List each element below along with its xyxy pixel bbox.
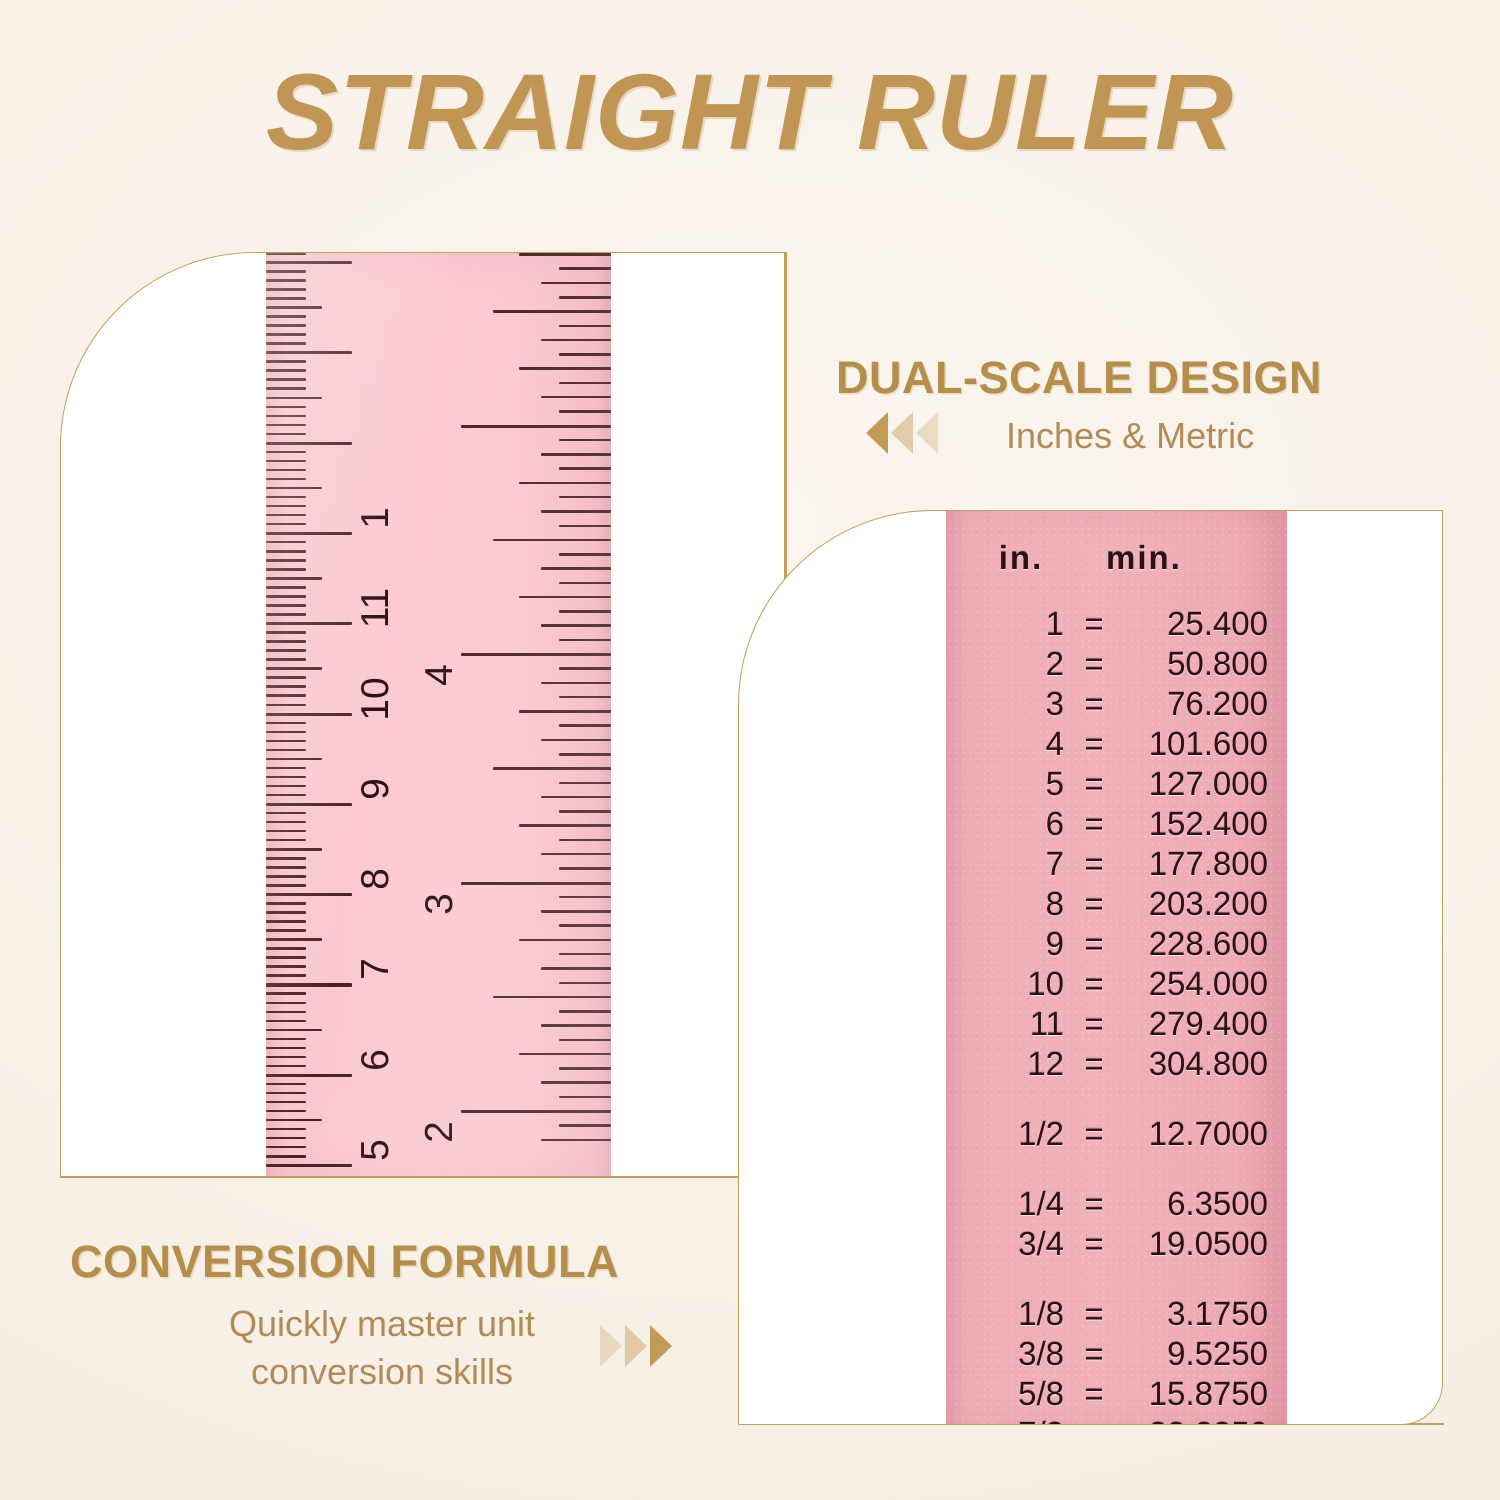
metric-label: 1 xyxy=(356,490,408,546)
metric-label: 11 xyxy=(356,580,408,636)
cell-equals: = xyxy=(1074,927,1114,960)
inch-tick-fraction xyxy=(559,496,611,499)
cell-equals: = xyxy=(1074,727,1114,760)
inch-label: 4 xyxy=(420,647,472,703)
table-row: 10=254.000 xyxy=(946,967,1287,1007)
metric-tick-mm xyxy=(266,956,306,959)
chevron-right-icon xyxy=(650,1325,672,1367)
cell-inches: 11 xyxy=(946,1007,1074,1040)
inch-tick-fraction xyxy=(559,753,611,756)
header-millimeters: min. xyxy=(1106,541,1282,574)
inch-tick-fraction xyxy=(519,939,611,942)
infographic-canvas: STRAIGHT RULER 5678910111234 in.min.1=25… xyxy=(0,0,1500,1500)
cell-equals: = xyxy=(1074,847,1114,880)
cell-inches: 1 xyxy=(946,607,1074,640)
metric-tick-mm xyxy=(266,333,306,336)
table-row: 3/8=9.5250 xyxy=(946,1337,1287,1377)
ruler-conversion-strip: in.min.1=25.4002=50.8003=76.2004=101.600… xyxy=(946,511,1287,1425)
inch-tick-fraction xyxy=(559,439,611,442)
metric-tick-mm xyxy=(266,324,306,327)
inch-tick-fraction xyxy=(559,267,611,270)
ruler-photo-card: 5678910111234 xyxy=(60,252,785,1177)
inch-tick-fraction xyxy=(559,1010,611,1013)
metric-tick-mm xyxy=(266,360,306,363)
conversion-table: in.min.1=25.4002=50.8003=76.2004=101.600… xyxy=(946,541,1287,1425)
cell-equals: = xyxy=(1074,607,1114,640)
chevron-group-right xyxy=(600,1325,675,1367)
inch-tick-fraction xyxy=(559,382,611,385)
metric-tick-mm xyxy=(266,911,306,914)
inch-tick-fraction xyxy=(541,339,611,342)
cell-equals: = xyxy=(1074,807,1114,840)
cell-inches: 8 xyxy=(946,887,1074,920)
inch-label: 2 xyxy=(420,1104,472,1160)
metric-tick-mm xyxy=(266,857,306,860)
metric-tick-mm xyxy=(266,541,306,544)
chevron-right-icon xyxy=(600,1325,622,1367)
chevron-left-icon xyxy=(866,412,888,454)
metric-tick-mm xyxy=(266,604,306,607)
metric-tick-half xyxy=(266,577,322,580)
cell-equals: = xyxy=(1074,1377,1114,1410)
metric-tick-mm xyxy=(266,1128,306,1131)
metric-tick-mm xyxy=(266,929,306,932)
metric-tick-mm xyxy=(266,631,306,634)
metric-tick-mm xyxy=(266,342,306,345)
metric-tick-mm xyxy=(266,649,306,652)
inch-tick-fraction xyxy=(559,667,611,670)
metric-tick-cm xyxy=(266,532,352,535)
metric-tick-mm xyxy=(266,704,306,707)
table-row: 5/8=15.8750 xyxy=(946,1377,1287,1417)
metric-tick-cm xyxy=(266,893,352,896)
metric-tick-mm xyxy=(266,613,306,616)
cell-inches: 1/8 xyxy=(946,1297,1074,1330)
metric-tick-mm xyxy=(266,252,306,255)
inch-tick-fraction xyxy=(559,782,611,785)
metric-tick-mm xyxy=(266,749,306,752)
metric-tick-mm xyxy=(266,640,306,643)
inch-tick-fraction xyxy=(559,696,611,699)
metric-tick-mm xyxy=(266,1137,306,1140)
metric-tick-mm xyxy=(266,794,306,797)
metric-tick-mm xyxy=(266,315,306,318)
metric-tick-mm xyxy=(266,514,306,517)
inch-tick-fraction xyxy=(559,810,611,813)
inch-tick-fraction xyxy=(493,310,611,313)
metric-tick-mm xyxy=(266,875,306,878)
metric-tick-half xyxy=(266,848,322,851)
cell-millimeters: 15.8750 xyxy=(1114,1377,1282,1410)
inch-tick-fraction xyxy=(541,967,611,970)
table-row: 7/8=22.2250 xyxy=(946,1417,1287,1425)
metric-label: 9 xyxy=(356,761,408,817)
conversion-table-card: in.min.1=25.4002=50.8003=76.2004=101.600… xyxy=(738,510,1443,1425)
inch-tick-fraction xyxy=(541,282,611,285)
metric-tick-cm xyxy=(266,713,352,716)
inch-tick-fraction xyxy=(541,853,611,856)
metric-tick-cm xyxy=(266,1164,352,1167)
metric-tick-mm xyxy=(266,1038,306,1041)
metric-tick-mm xyxy=(266,839,306,842)
cell-millimeters: 12.7000 xyxy=(1114,1117,1282,1150)
header-inches: in. xyxy=(946,541,1096,574)
metric-tick-mm xyxy=(266,685,306,688)
inch-tick-fraction xyxy=(541,796,611,799)
metric-tick-cm xyxy=(266,983,352,986)
table-row: 11=279.400 xyxy=(946,1007,1287,1047)
metric-tick-mm xyxy=(266,1101,306,1104)
inch-tick-fraction xyxy=(541,1139,611,1142)
inch-tick-whole xyxy=(461,882,611,885)
metric-label: 10 xyxy=(356,671,408,727)
cell-inches: 12 xyxy=(946,1047,1074,1080)
metric-tick-half xyxy=(266,397,322,400)
page-title: STRAIGHT RULER xyxy=(0,58,1500,166)
metric-tick-mm xyxy=(266,785,306,788)
inch-tick-fraction xyxy=(559,839,611,842)
cell-equals: = xyxy=(1074,1187,1114,1220)
cell-inches: 3/4 xyxy=(946,1227,1074,1260)
inch-tick-fraction xyxy=(559,867,611,870)
cell-millimeters: 9.5250 xyxy=(1114,1337,1282,1370)
metric-tick-mm xyxy=(266,866,306,869)
table-row: 5=127.000 xyxy=(946,767,1287,807)
cell-inches: 3/8 xyxy=(946,1337,1074,1370)
metric-tick-mm xyxy=(266,1092,306,1095)
metric-tick-mm xyxy=(266,279,306,282)
inch-tick-fraction xyxy=(541,567,611,570)
metric-tick-mm xyxy=(266,505,306,508)
cell-equals: = xyxy=(1074,1227,1114,1260)
metric-tick-mm xyxy=(266,1047,306,1050)
metric-tick-mm xyxy=(266,1020,306,1023)
feature-subtitle-conversion-formula: Quickly master unit conversion skills xyxy=(212,1300,552,1395)
metric-tick-mm xyxy=(266,369,306,372)
metric-tick-half xyxy=(266,1029,322,1032)
feature-title-dual-scale: DUAL-SCALE DESIGN xyxy=(836,352,1322,404)
metric-label: 6 xyxy=(356,1032,408,1088)
metric-tick-mm xyxy=(266,496,306,499)
cell-inches: 1/4 xyxy=(946,1187,1074,1220)
table-row: 1/2=12.7000 xyxy=(946,1117,1287,1157)
chevron-group-left xyxy=(866,412,941,454)
metric-tick-mm xyxy=(266,1083,306,1086)
cell-equals: = xyxy=(1074,767,1114,800)
inch-tick-fraction xyxy=(559,1096,611,1099)
inch-tick-fraction xyxy=(559,639,611,642)
inch-tick-fraction xyxy=(559,353,611,356)
metric-tick-mm xyxy=(266,965,306,968)
cell-millimeters: 304.800 xyxy=(1114,1047,1282,1080)
cell-equals: = xyxy=(1074,1297,1114,1330)
inch-tick-fraction xyxy=(559,1124,611,1127)
metric-tick-mm xyxy=(266,947,306,950)
metric-tick-mm xyxy=(266,902,306,905)
metric-tick-mm xyxy=(266,550,306,553)
table-row: 6=152.400 xyxy=(946,807,1287,847)
cell-millimeters: 25.400 xyxy=(1114,607,1282,640)
metric-tick-mm xyxy=(266,406,306,409)
metric-tick-mm xyxy=(266,812,306,815)
metric-tick-mm xyxy=(266,586,306,589)
metric-tick-mm xyxy=(266,297,306,300)
metric-tick-mm xyxy=(266,460,306,463)
conversion-table-header: in.min. xyxy=(946,541,1287,607)
cell-inches: 1/2 xyxy=(946,1117,1074,1150)
cell-inches: 4 xyxy=(946,727,1074,760)
inch-label: 3 xyxy=(420,876,472,932)
inch-tick-fraction xyxy=(559,896,611,899)
cell-millimeters: 279.400 xyxy=(1114,1007,1282,1040)
metric-tick-cm xyxy=(266,351,352,354)
table-row-spacer xyxy=(946,1087,1287,1117)
inch-tick-fraction xyxy=(541,396,611,399)
table-row: 1/8=3.1750 xyxy=(946,1297,1287,1337)
inch-tick-whole xyxy=(461,653,611,656)
cell-millimeters: 177.800 xyxy=(1114,847,1282,880)
metric-tick-mm xyxy=(266,1011,306,1014)
cell-inches: 6 xyxy=(946,807,1074,840)
inch-tick-fraction xyxy=(541,739,611,742)
cell-millimeters: 50.800 xyxy=(1114,647,1282,680)
table-row: 3=76.200 xyxy=(946,687,1287,727)
inch-tick-fraction xyxy=(541,1024,611,1027)
cell-inches: 7/8 xyxy=(946,1417,1074,1425)
metric-tick-mm xyxy=(266,676,306,679)
metric-label: 7 xyxy=(356,941,408,997)
chevron-right-icon xyxy=(625,1325,647,1367)
cell-equals: = xyxy=(1074,1007,1114,1040)
metric-tick-mm xyxy=(266,1146,306,1149)
metric-tick-mm xyxy=(266,1155,306,1158)
inch-tick-fraction xyxy=(541,453,611,456)
metric-tick-mm xyxy=(266,1002,306,1005)
table-row: 1/4=6.3500 xyxy=(946,1187,1287,1227)
metric-tick-cm xyxy=(266,622,352,625)
metric-tick-mm xyxy=(266,288,306,291)
inch-tick-fraction xyxy=(559,325,611,328)
cell-equals: = xyxy=(1074,1417,1114,1425)
cell-millimeters: 254.000 xyxy=(1114,967,1282,1000)
cell-inches: 5/8 xyxy=(946,1377,1074,1410)
inch-tick-fraction xyxy=(541,682,611,685)
cell-millimeters: 6.3500 xyxy=(1114,1187,1282,1220)
metric-label: 5 xyxy=(356,1122,408,1177)
cell-inches: 7 xyxy=(946,847,1074,880)
metric-tick-mm xyxy=(266,559,306,562)
table-row-spacer xyxy=(946,1267,1287,1297)
metric-tick-mm xyxy=(266,469,306,472)
metric-tick-mm xyxy=(266,270,306,273)
cell-millimeters: 228.600 xyxy=(1114,927,1282,960)
inch-tick-fraction xyxy=(541,624,611,627)
cell-millimeters: 3.1750 xyxy=(1114,1297,1282,1330)
metric-tick-mm xyxy=(266,415,306,418)
cell-inches: 5 xyxy=(946,767,1074,800)
cell-inches: 2 xyxy=(946,647,1074,680)
cell-millimeters: 19.0500 xyxy=(1114,1227,1282,1260)
cell-millimeters: 203.200 xyxy=(1114,887,1282,920)
metric-tick-mm xyxy=(266,776,306,779)
cell-equals: = xyxy=(1074,1047,1114,1080)
inch-tick-fraction xyxy=(559,924,611,927)
feature-title-conversion-formula: CONVERSION FORMULA xyxy=(70,1236,619,1288)
metric-tick-mm xyxy=(266,378,306,381)
inch-tick-fraction xyxy=(559,1039,611,1042)
metric-tick-mm xyxy=(266,992,306,995)
inch-tick-fraction xyxy=(559,525,611,528)
cell-equals: = xyxy=(1074,887,1114,920)
table-row: 3/4=19.0500 xyxy=(946,1227,1287,1267)
chevron-left-icon xyxy=(891,412,913,454)
inch-tick-fraction xyxy=(559,410,611,413)
cell-inches: 10 xyxy=(946,967,1074,1000)
table-row: 9=228.600 xyxy=(946,927,1287,967)
inch-tick-whole xyxy=(461,1110,611,1113)
metric-tick-mm xyxy=(266,568,306,571)
metric-tick-mm xyxy=(266,740,306,743)
table-row: 8=203.200 xyxy=(946,887,1287,927)
metric-tick-mm xyxy=(266,424,306,427)
metric-tick-half xyxy=(266,487,322,490)
inch-tick-fraction xyxy=(493,539,611,542)
cell-equals: = xyxy=(1074,967,1114,1000)
metric-tick-mm xyxy=(266,595,306,598)
inch-tick-fraction xyxy=(541,1081,611,1084)
inch-tick-fraction xyxy=(493,996,611,999)
inch-tick-fraction xyxy=(519,482,611,485)
metric-tick-cm xyxy=(266,803,352,806)
cell-equals: = xyxy=(1074,1337,1114,1370)
metric-label: 8 xyxy=(356,851,408,907)
metric-tick-half xyxy=(266,306,322,309)
table-row-spacer xyxy=(946,1157,1287,1187)
cell-millimeters: 101.600 xyxy=(1114,727,1282,760)
cell-equals: = xyxy=(1074,1117,1114,1150)
table-row: 2=50.800 xyxy=(946,647,1287,687)
metric-tick-half xyxy=(266,938,322,941)
inch-tick-fraction xyxy=(559,1067,611,1070)
inch-tick-fraction xyxy=(559,553,611,556)
metric-tick-mm xyxy=(266,974,306,977)
metric-tick-mm xyxy=(266,451,306,454)
inch-tick-fraction xyxy=(493,767,611,770)
table-row: 12=304.800 xyxy=(946,1047,1287,1087)
inch-tick-fraction xyxy=(519,710,611,713)
metric-tick-mm xyxy=(266,1056,306,1059)
metric-tick-mm xyxy=(266,830,306,833)
inch-tick-fraction xyxy=(519,367,611,370)
metric-tick-mm xyxy=(266,1065,306,1068)
metric-tick-mm xyxy=(266,433,306,436)
table-row: 1=25.400 xyxy=(946,607,1287,647)
metric-tick-mm xyxy=(266,920,306,923)
metric-tick-mm xyxy=(266,1110,306,1113)
inch-tick-fraction xyxy=(559,982,611,985)
inch-tick-fraction xyxy=(541,510,611,513)
cell-inches: 3 xyxy=(946,687,1074,720)
cell-millimeters: 76.200 xyxy=(1114,687,1282,720)
inch-tick-fraction xyxy=(519,596,611,599)
pink-ruler: 5678910111234 xyxy=(266,253,611,1177)
metric-tick-half xyxy=(266,1119,322,1122)
chevron-left-icon xyxy=(916,412,938,454)
inch-tick-fraction xyxy=(541,910,611,913)
inch-tick-whole xyxy=(461,425,611,428)
cell-inches: 9 xyxy=(946,927,1074,960)
metric-tick-mm xyxy=(266,884,306,887)
metric-tick-mm xyxy=(266,694,306,697)
inch-tick-fraction xyxy=(559,467,611,470)
feature-subtitle-dual-scale: Inches & Metric xyxy=(1006,412,1254,460)
table-row: 7=177.800 xyxy=(946,847,1287,887)
inch-tick-fraction xyxy=(559,582,611,585)
metric-tick-mm xyxy=(266,523,306,526)
metric-tick-half xyxy=(266,758,322,761)
metric-tick-half xyxy=(266,667,322,670)
inch-tick-fraction xyxy=(519,1053,611,1056)
inch-tick-fraction xyxy=(559,953,611,956)
inch-tick-fraction xyxy=(559,610,611,613)
inch-tick-fraction xyxy=(559,296,611,299)
metric-tick-cm xyxy=(266,261,352,264)
cell-millimeters: 127.000 xyxy=(1114,767,1282,800)
metric-tick-mm xyxy=(266,387,306,390)
inch-tick-fraction xyxy=(519,253,611,256)
metric-tick-mm xyxy=(266,731,306,734)
metric-tick-cm xyxy=(266,442,352,445)
cell-millimeters: 22.2250 xyxy=(1114,1417,1282,1425)
inch-tick-fraction xyxy=(519,824,611,827)
metric-tick-mm xyxy=(266,722,306,725)
metric-tick-mm xyxy=(266,821,306,824)
cell-equals: = xyxy=(1074,647,1114,680)
metric-tick-mm xyxy=(266,478,306,481)
metric-tick-mm xyxy=(266,658,306,661)
cell-equals: = xyxy=(1074,687,1114,720)
metric-tick-cm xyxy=(266,1074,352,1077)
metric-tick-mm xyxy=(266,767,306,770)
inch-tick-fraction xyxy=(559,724,611,727)
table-row: 4=101.600 xyxy=(946,727,1287,767)
cell-millimeters: 152.400 xyxy=(1114,807,1282,840)
